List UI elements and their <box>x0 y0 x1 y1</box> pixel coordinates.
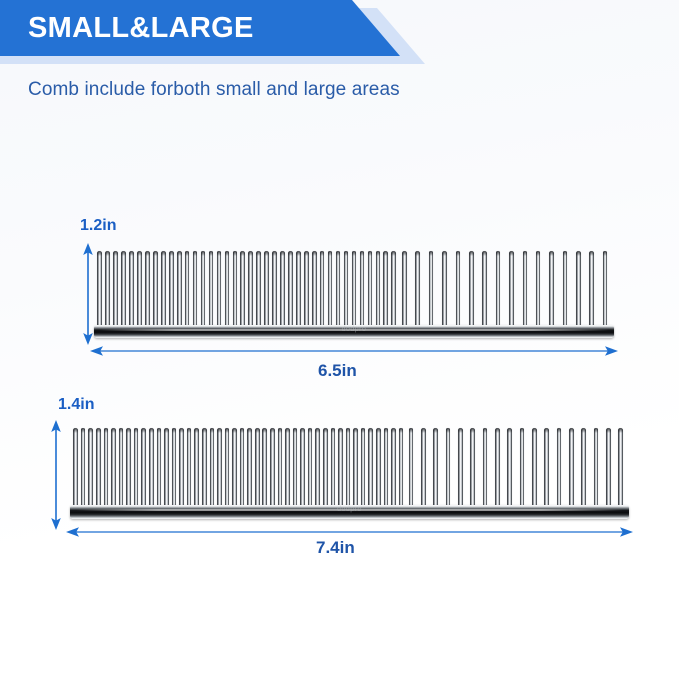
comb-tooth <box>421 428 426 517</box>
comb-tooth <box>300 428 305 517</box>
comb-tooth <box>483 428 488 517</box>
comb-tooth <box>323 428 328 518</box>
large-comb-height-label: 1.4in <box>58 396 94 414</box>
comb-tooth <box>172 428 177 518</box>
comb-tooth <box>569 428 574 517</box>
comb-tooth <box>293 428 298 518</box>
comb-tooth <box>278 428 283 518</box>
comb-tooth <box>581 428 586 517</box>
large-comb-teeth <box>72 424 627 517</box>
comb-tooth <box>606 428 611 517</box>
comb-tooth <box>391 428 396 517</box>
comb-tooth <box>217 428 222 518</box>
comb-tooth <box>495 428 500 517</box>
comb-tooth <box>308 428 313 518</box>
comb-tooth <box>361 428 366 517</box>
comb-tooth <box>141 428 146 518</box>
comb-tooth <box>247 428 252 518</box>
comb-tooth <box>338 428 343 518</box>
large-comb-brand-text: dodpro <box>337 506 362 513</box>
comb-tooth <box>81 428 86 518</box>
comb-tooth <box>353 428 358 518</box>
comb-tooth <box>346 428 351 517</box>
comb-tooth <box>149 428 154 517</box>
comb-tooth <box>532 428 537 517</box>
comb-tooth <box>270 428 275 517</box>
comb-tooth <box>88 428 93 517</box>
comb-tooth <box>255 428 260 517</box>
comb-tooth <box>202 428 207 518</box>
large-comb-base-bar: dodpro <box>70 505 629 519</box>
comb-tooth <box>104 428 109 517</box>
comb-tooth <box>179 428 184 517</box>
comb-tooth <box>409 428 414 517</box>
comb-tooth <box>384 428 389 518</box>
large-comb-height-arrow <box>46 420 66 530</box>
comb-tooth <box>164 428 169 517</box>
comb-tooth <box>376 428 381 517</box>
comb-tooth <box>240 428 245 517</box>
comb-tooth <box>557 428 562 517</box>
comb-tooth <box>399 428 404 518</box>
comb-tooth <box>331 428 336 517</box>
comb-tooth <box>544 428 549 517</box>
comb-tooth <box>96 428 101 518</box>
comb-tooth <box>187 428 192 518</box>
comb-tooth <box>433 428 438 517</box>
comb-tooth <box>262 428 267 518</box>
comb-tooth <box>111 428 116 518</box>
comb-tooth <box>507 428 512 517</box>
comb-tooth <box>520 428 525 517</box>
comb-tooth <box>285 428 290 517</box>
comb-tooth <box>126 428 131 518</box>
comb-tooth <box>458 428 463 517</box>
comb-tooth <box>119 428 124 517</box>
large-comb-body <box>72 424 627 517</box>
comb-tooth <box>225 428 230 517</box>
comb-tooth <box>594 428 599 517</box>
comb-tooth <box>194 428 199 517</box>
comb-tooth <box>157 428 162 518</box>
large-comb-width-label: 7.4in <box>316 538 355 558</box>
comb-tooth <box>315 428 320 517</box>
comb-tooth <box>368 428 373 518</box>
comb-tooth <box>73 428 78 517</box>
comb-tooth <box>134 428 139 517</box>
comb-tooth <box>232 428 237 518</box>
comb-tooth <box>446 428 451 517</box>
product-large-comb: 1.4in dodpro 7.4in <box>0 0 679 679</box>
comb-tooth <box>470 428 475 517</box>
comb-tooth <box>210 428 215 517</box>
comb-tooth <box>618 428 623 517</box>
